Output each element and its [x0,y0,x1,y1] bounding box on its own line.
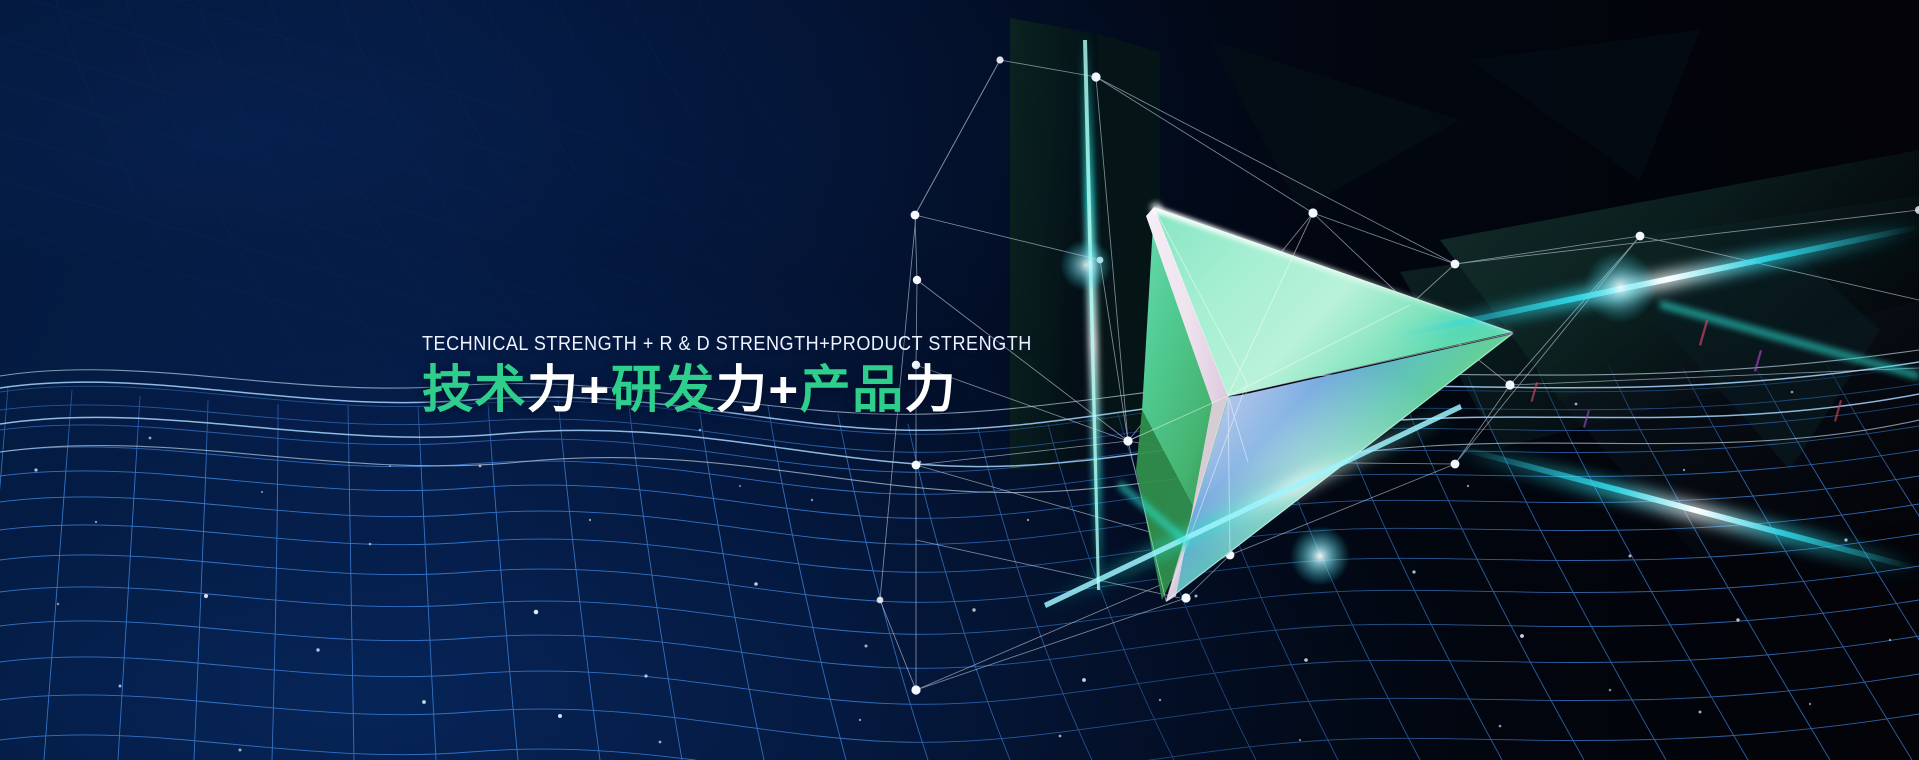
cyan-light-streak [0,0,1919,760]
hero-banner: TECHNICAL STRENGTH + R & D STRENGTH+PROD… [0,0,1919,760]
